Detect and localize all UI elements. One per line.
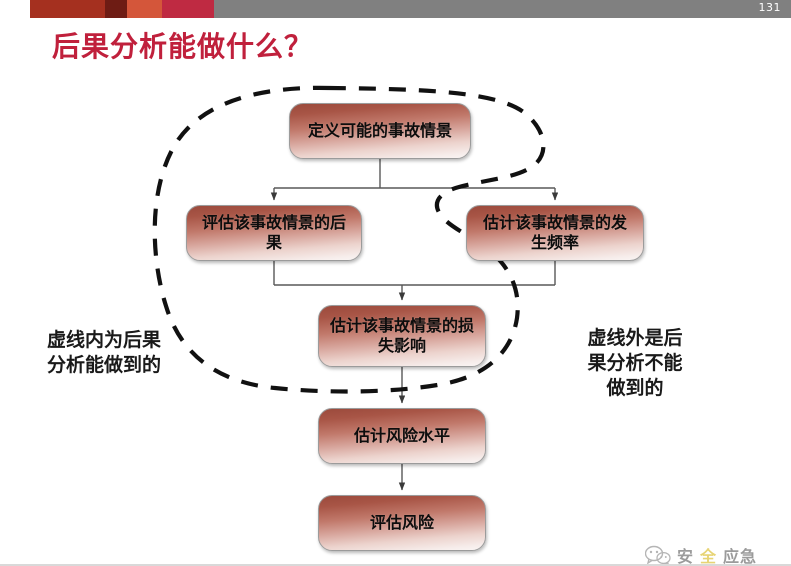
slide-canvas: 131 后果分析能做什么？ 定 [0, 0, 791, 566]
flow-box-label: 评估该事故情景的后果 [197, 213, 351, 254]
flow-box-evaluate-risk[interactable]: 评估风险 [318, 495, 486, 551]
flow-box-label: 估计风险水平 [354, 426, 450, 446]
watermark-text-prefix: 安 [677, 543, 694, 566]
wechat-icon [645, 545, 671, 565]
diagram-vector-layer [0, 0, 791, 566]
flow-box-estimate-frequency[interactable]: 估计该事故情景的发生频率 [466, 205, 644, 261]
annotation-inside-dashed: 虚线内为后果 分析能做到的 [14, 328, 194, 378]
flow-box-define-scenario[interactable]: 定义可能的事故情景 [289, 103, 471, 159]
page-title: 后果分析能做什么？ [52, 32, 313, 63]
watermark-text-suffix: 应急 [723, 543, 757, 566]
flow-box-label: 估计该事故情景的发生频率 [477, 213, 633, 254]
bar-segment-gray [214, 0, 791, 18]
top-decorative-bar: 131 [0, 0, 791, 18]
bar-segment-dark-red [30, 0, 105, 18]
page-number: 131 [759, 1, 782, 14]
bar-segment-crimson [162, 0, 214, 18]
flow-box-label: 评估风险 [370, 513, 434, 533]
annotation-outside-dashed: 虚线外是后 果分析不能 做到的 [540, 326, 730, 401]
flow-box-label: 估计该事故情景的损失影响 [329, 316, 475, 357]
bar-segment-orange-red [127, 0, 162, 18]
wechat-watermark: 安 全 应急 [645, 543, 757, 566]
flow-box-label: 定义可能的事故情景 [308, 121, 452, 141]
flow-box-estimate-loss[interactable]: 估计该事故情景的损失影响 [318, 305, 486, 367]
flow-box-assess-consequence[interactable]: 评估该事故情景的后果 [186, 205, 362, 261]
bar-segment-maroon [105, 0, 127, 18]
watermark-text-highlight: 全 [700, 543, 717, 566]
flow-box-estimate-risk-level[interactable]: 估计风险水平 [318, 408, 486, 464]
